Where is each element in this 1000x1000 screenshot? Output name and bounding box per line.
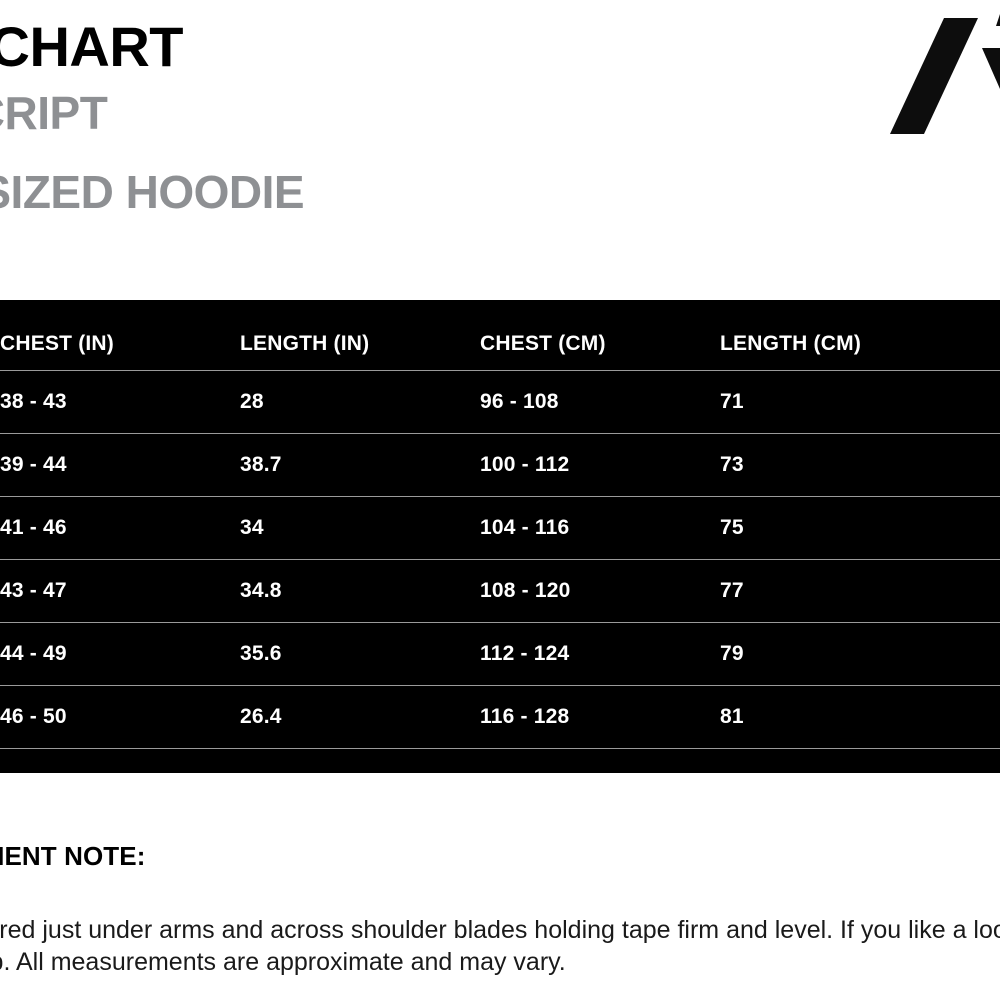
brand-name: TANSCRIPT: [0, 85, 304, 143]
table-bottom-padding: [0, 749, 1000, 773]
table-row: S 38 - 43 28 96 - 108 71: [0, 370, 1000, 433]
cell-length-cm: 81: [720, 685, 1000, 748]
table-row: 3XL 46 - 50 26.4 116 - 128 81: [0, 685, 1000, 748]
column-header-length-in: LENGTH (IN): [240, 300, 480, 370]
column-header-chest-in: CHEST (IN): [0, 300, 240, 370]
measurement-note-body: Chest measured just under arms and acros…: [0, 914, 1000, 978]
table-row: XL 43 - 47 34.8 108 - 120 77: [0, 559, 1000, 622]
cell-length-cm: 77: [720, 559, 1000, 622]
cell-chest-cm: 104 - 116: [480, 496, 720, 559]
cell-chest-in: 44 - 49: [0, 622, 240, 685]
cell-chest-in: 38 - 43: [0, 370, 240, 433]
column-header-length-cm: LENGTH (CM): [720, 300, 1000, 370]
page-title: SIZE CHART: [0, 18, 304, 77]
page-header: SIZE CHART TANSCRIPT OVERSIZED HOODIE: [0, 0, 1000, 300]
table-row: 2XL 44 - 49 35.6 112 - 124 79: [0, 622, 1000, 685]
cell-chest-in: 43 - 47: [0, 559, 240, 622]
table-header: SIZE CHEST (IN) LENGTH (IN) CHEST (CM) L…: [0, 300, 1000, 370]
table-row: L 41 - 46 34 104 - 116 75: [0, 496, 1000, 559]
cell-length-in: 34: [240, 496, 480, 559]
measurement-note-section: MEASUREMENT NOTE: Chest measured just un…: [0, 805, 1000, 978]
title-block: SIZE CHART TANSCRIPT OVERSIZED HOODIE: [0, 18, 304, 222]
product-name: OVERSIZED HOODIE: [0, 164, 304, 222]
cell-chest-cm: 100 - 112: [480, 433, 720, 496]
cell-length-cm: 71: [720, 370, 1000, 433]
cell-chest-cm: 108 - 120: [480, 559, 720, 622]
cell-chest-in: 41 - 46: [0, 496, 240, 559]
cell-length-in: 35.6: [240, 622, 480, 685]
brand-logo-icon: [882, 14, 1000, 138]
cell-length-in: 34.8: [240, 559, 480, 622]
size-chart-page: SIZE CHART TANSCRIPT OVERSIZED HOODIE SI…: [0, 0, 1000, 1000]
size-table: SIZE CHEST (IN) LENGTH (IN) CHEST (CM) L…: [0, 300, 1000, 748]
cell-length-cm: 75: [720, 496, 1000, 559]
table-row: M 39 - 44 38.7 100 - 112 73: [0, 433, 1000, 496]
table-header-row: SIZE CHEST (IN) LENGTH (IN) CHEST (CM) L…: [0, 300, 1000, 370]
table-body: S 38 - 43 28 96 - 108 71 M 39 - 44 38.7 …: [0, 370, 1000, 748]
cell-length-in: 26.4: [240, 685, 480, 748]
column-header-chest-cm: CHEST (CM): [480, 300, 720, 370]
measurement-note-heading: MEASUREMENT NOTE:: [0, 841, 1000, 872]
cell-chest-in: 39 - 44: [0, 433, 240, 496]
cell-chest-cm: 116 - 128: [480, 685, 720, 748]
size-table-container: SIZE CHEST (IN) LENGTH (IN) CHEST (CM) L…: [0, 300, 1000, 773]
cell-length-in: 28: [240, 370, 480, 433]
cell-chest-cm: 112 - 124: [480, 622, 720, 685]
cell-length-cm: 79: [720, 622, 1000, 685]
cell-length-in: 38.7: [240, 433, 480, 496]
cell-chest-cm: 96 - 108: [480, 370, 720, 433]
cell-length-cm: 73: [720, 433, 1000, 496]
cell-chest-in: 46 - 50: [0, 685, 240, 748]
